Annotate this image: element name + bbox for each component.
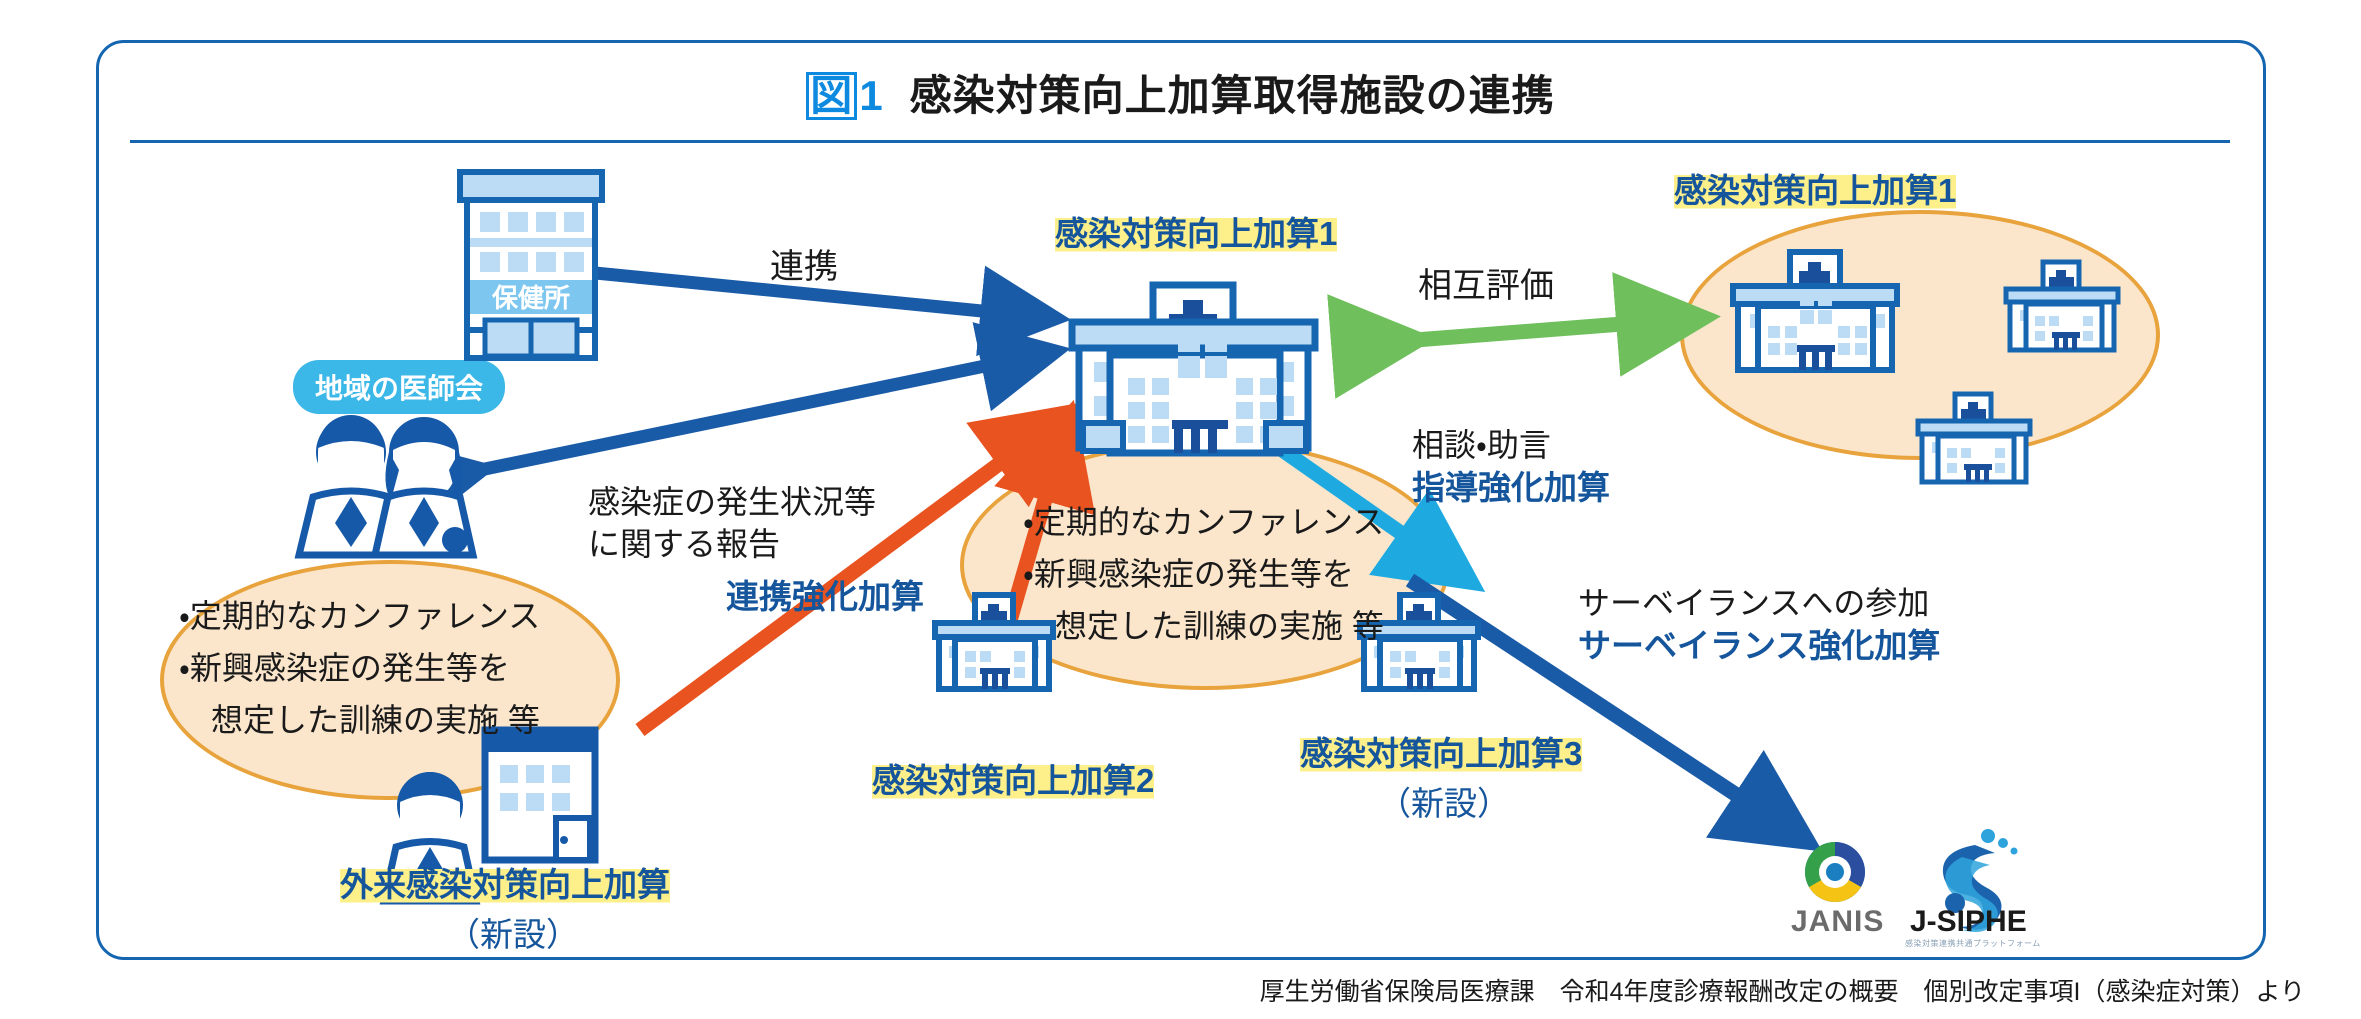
label-cooperation: 連携 [770, 246, 838, 290]
right-group-ellipse [1680, 210, 2160, 460]
label-consult-line1: 相談・助言 [1412, 425, 1551, 466]
hospital3-label: 感染対策向上加算3 [1300, 733, 1582, 775]
medical-association-badge: 地域の医師会 [293, 360, 505, 414]
label-surveillance-line1: サーベイランスへの参加 [1578, 583, 1929, 624]
source-footer: 厚生労働省保険局医療課 令和4年度診療報酬改定の概要 個別改定事項I（感染症対策… [0, 972, 2305, 1008]
label-mutual-evaluation: 相互評価 [1418, 265, 1554, 309]
hospital2-label: 感染対策向上加算2 [872, 760, 1154, 802]
janis-logo-label: JANIS [1791, 905, 1884, 939]
left-bubble-line1: ・定期的なカンファレンス [179, 596, 540, 637]
center-hospital-label: 感染対策向上加算1 [1055, 213, 1337, 255]
jsiphe-logo-sublabel: 感染対策連携共通プラットフォーム [1905, 938, 2041, 949]
label-report-line1: 感染症の発生状況等 [588, 482, 876, 523]
label-surveillance-bonus: サーベイランス強化加算 [1578, 625, 1940, 667]
left-bubble-line2: ・新興感染症の発生等を [179, 648, 510, 689]
label-consult-bonus: 指導強化加算 [1412, 467, 1610, 509]
jsiphe-logo-label: J-SIPHE [1910, 905, 2027, 939]
clinic-sublabel: （新設） [447, 914, 579, 956]
page-title: 図1感染対策向上加算取得施設の連携 [0, 62, 2361, 123]
hospital3-sublabel: （新設） [1378, 783, 1510, 825]
left-bubble-line3: 想定した訓練の実施 等 [179, 700, 540, 741]
center-bubble-line1: ・定期的なカンファレンス [1023, 502, 1384, 543]
title-divider [130, 140, 2230, 143]
clinic-label: 外来感染対策向上加算 [340, 864, 670, 906]
label-cooperation-bonus: 連携強化加算 [726, 576, 924, 618]
right-hospital-label: 感染対策向上加算1 [1674, 170, 1956, 212]
figure-number: 1 [859, 72, 883, 119]
title-text: 感染対策向上加算取得施設の連携 [910, 72, 1555, 119]
center-bubble-line2: ・新興感染症の発生等を [1023, 554, 1354, 595]
label-report-line2: に関する報告 [588, 524, 780, 565]
figure-label: 図1 [806, 72, 883, 119]
center-bubble-line3: 想定した訓練の実施 等 [1023, 606, 1384, 647]
infographic-root: 図1感染対策向上加算取得施設の連携 [0, 0, 2361, 1019]
figure-label-kanji: 図 [806, 72, 857, 120]
